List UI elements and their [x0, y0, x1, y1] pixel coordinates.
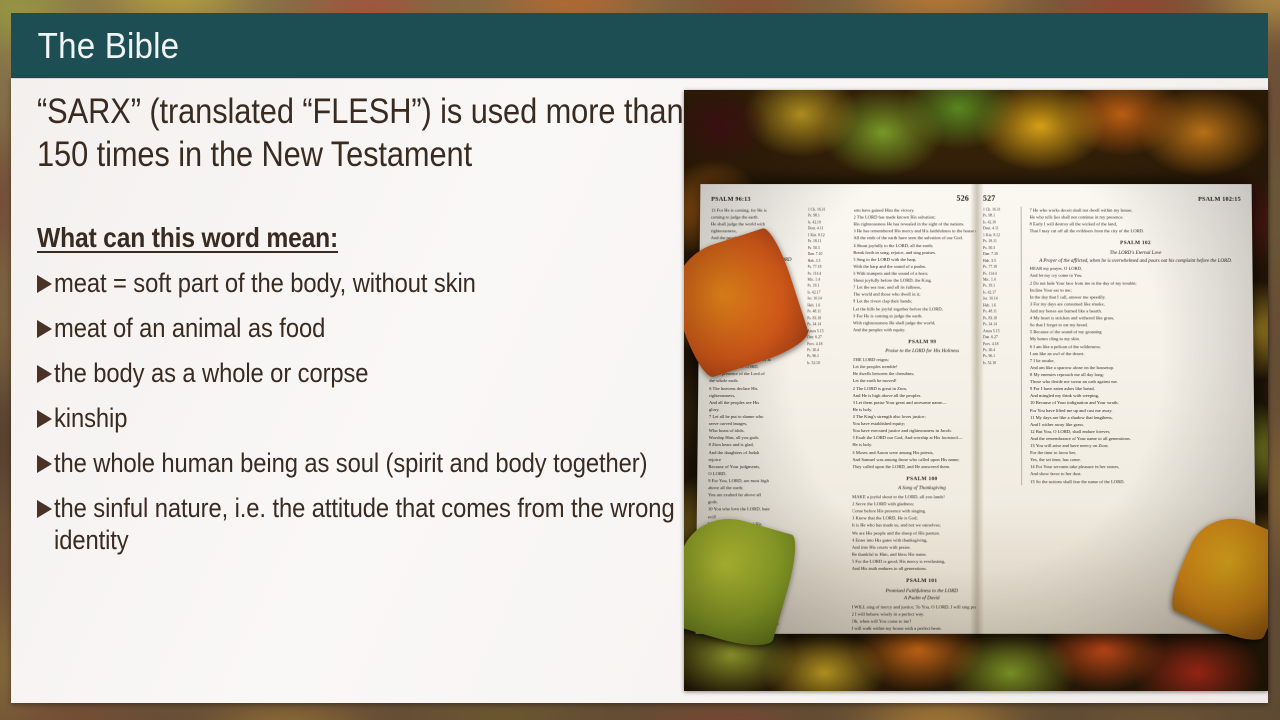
photo-vignette: [684, 90, 1268, 691]
list-item-label: the sinful nature, i.e. the attitude tha…: [54, 493, 708, 557]
list-item-label: meat of an animal as food: [54, 313, 708, 345]
list-item-label: kinship: [54, 403, 708, 435]
open-bible-autumn-leaves-photo: PSALM 96:13 526 13 For He is coming, for…: [684, 90, 1268, 691]
list-item: meat of an animal as food: [37, 313, 797, 345]
right-triangle-bullet-icon: [37, 320, 52, 338]
list-item: the body as a whole or corpse: [37, 358, 797, 390]
list-item: the sinful nature, i.e. the attitude tha…: [37, 493, 797, 557]
list-item: meat = soft part of the body, without sk…: [37, 268, 797, 300]
right-triangle-bullet-icon: [37, 365, 52, 383]
list-item-label: the body as a whole or corpse: [54, 358, 708, 390]
right-triangle-bullet-icon: [37, 275, 52, 293]
right-triangle-bullet-icon: [37, 500, 52, 518]
subheading: What can this word mean:: [37, 222, 688, 254]
list-item: the whole human being as soul (spirit an…: [37, 448, 797, 480]
right-triangle-bullet-icon: [37, 455, 52, 473]
list-item: kinship: [37, 403, 797, 435]
subheading-wrapper: What can this word mean:: [37, 222, 687, 254]
lead-statement: “SARX” (translated “FLESH”) is used more…: [37, 91, 688, 176]
page-title: The Bible: [11, 25, 179, 67]
presentation-slide: The Bible “SARX” (translated “FLESH”) is…: [0, 0, 1280, 720]
slide-title-bar: The Bible: [11, 13, 1268, 78]
meaning-bullet-list: meat = soft part of the body, without sk…: [37, 268, 797, 556]
right-triangle-bullet-icon: [37, 410, 52, 428]
slide-content-panel: “SARX” (translated “FLESH”) is used more…: [11, 78, 1268, 703]
slide-text-column: “SARX” (translated “FLESH”) is used more…: [37, 91, 687, 691]
list-item-label: meat = soft part of the body, without sk…: [54, 268, 708, 300]
list-item-label: the whole human being as soul (spirit an…: [54, 448, 708, 480]
